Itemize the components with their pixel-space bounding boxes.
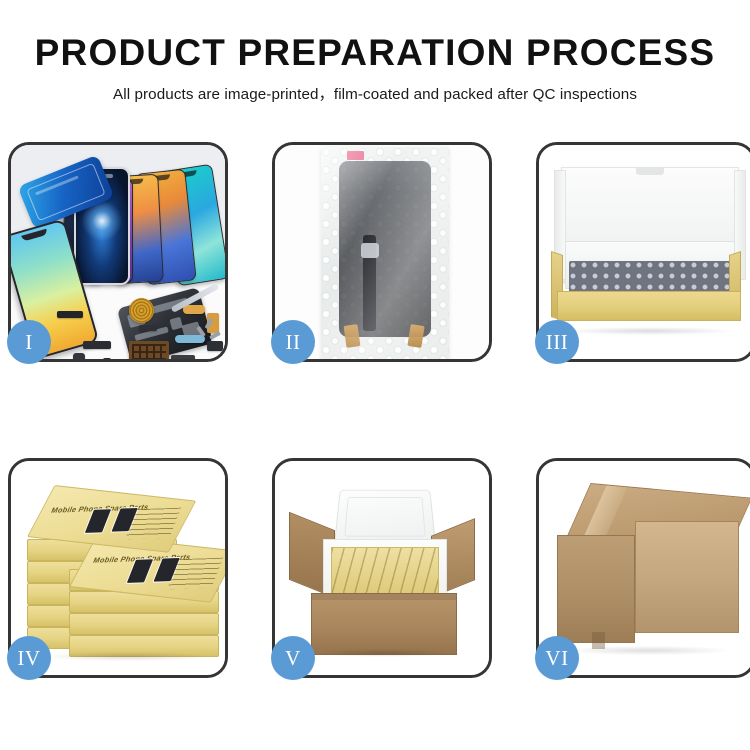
carton-front-panel — [311, 593, 457, 655]
step-badge-3: III — [535, 320, 579, 364]
spare-part — [207, 341, 223, 351]
housing-detail — [170, 317, 183, 330]
yellow-tray-front — [557, 291, 741, 321]
carton-left-face — [557, 535, 635, 643]
header: PRODUCT PREPARATION PROCESS All products… — [0, 34, 750, 104]
spare-part — [175, 335, 205, 343]
drop-shadow — [569, 646, 727, 655]
foam-box-lid — [334, 490, 436, 546]
spare-part — [171, 355, 195, 359]
gold-contact-left — [344, 324, 361, 348]
step-badge-1: I — [7, 320, 51, 364]
spare-part — [183, 305, 205, 314]
spare-part — [103, 358, 111, 359]
process-step-grid: I II — [8, 142, 748, 678]
process-step-panel-1: I — [8, 142, 228, 362]
stacked-box — [69, 613, 219, 635]
spare-part — [83, 341, 111, 349]
process-step-panel-2: II — [272, 142, 492, 362]
drop-shadow — [563, 327, 735, 335]
page-subtitle: All products are image-printed，film-coat… — [0, 82, 750, 104]
step-badge-5: V — [271, 636, 315, 680]
spare-part — [139, 325, 157, 331]
spare-part — [73, 353, 85, 359]
inner-yellow-boxes — [331, 547, 439, 597]
step-badge-6: VI — [535, 636, 579, 680]
process-step-panel-6: VI — [536, 458, 750, 678]
ic-chip-grid-part — [129, 341, 169, 359]
drop-shadow — [319, 649, 449, 657]
process-step-panel-5: V — [272, 458, 492, 678]
gold-contact-right — [407, 324, 424, 348]
lid-tab — [636, 168, 664, 175]
spare-part — [57, 311, 83, 318]
drop-shadow — [47, 652, 207, 661]
box-stack-group: Mobile Phone Spare Parts Mobile Phone Sp… — [21, 477, 223, 667]
process-step-panel-3: III — [536, 142, 750, 362]
copper-coil-part — [129, 298, 154, 323]
step-badge-4: IV — [7, 636, 51, 680]
pink-seal-tape — [347, 151, 364, 160]
wrapped-screen-assembly — [339, 161, 431, 337]
product-preparation-infographic: PRODUCT PREPARATION PROCESS All products… — [0, 0, 750, 750]
process-step-panel-4: Mobile Phone Spare Parts Mobile Phone Sp… — [8, 458, 228, 678]
page-title: PRODUCT PREPARATION PROCESS — [0, 34, 750, 73]
step-badge-2: II — [271, 320, 315, 364]
carton-right-face — [635, 521, 739, 633]
bubble-wrap-bag — [321, 147, 449, 359]
cable-connector — [361, 243, 379, 258]
